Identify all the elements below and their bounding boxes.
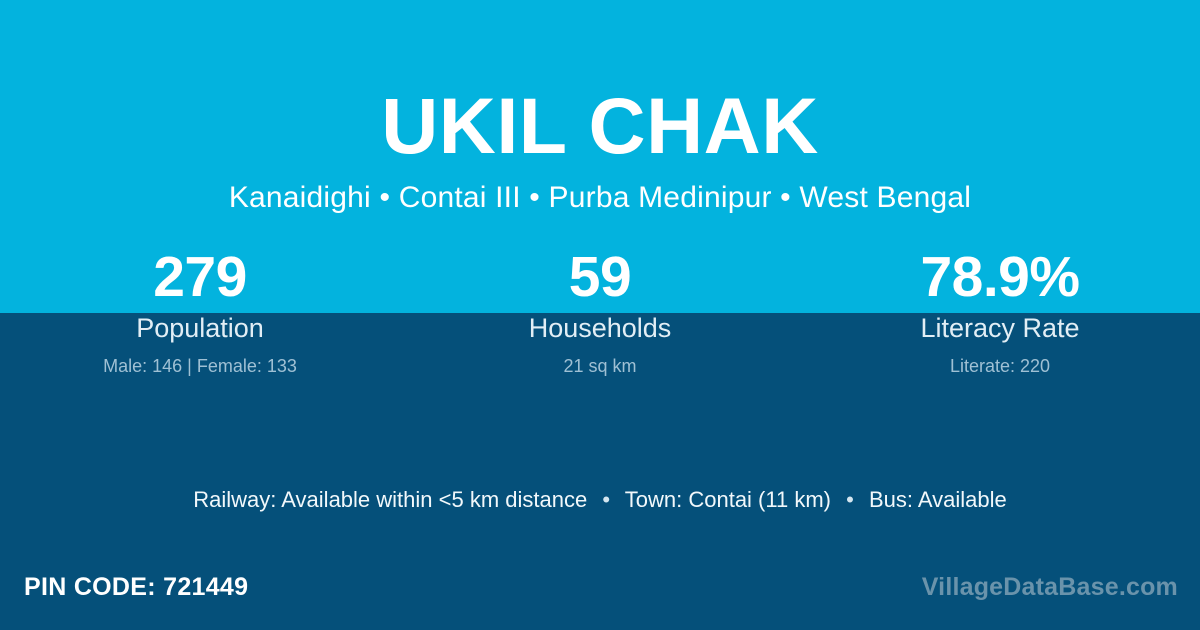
stat-value: 78.9%	[800, 245, 1200, 309]
village-info-card: UKIL CHAK Kanaidighi • Contai III • Purb…	[0, 0, 1200, 630]
stat-label: Population	[0, 311, 400, 345]
site-watermark: VillageDataBase.com	[922, 570, 1178, 604]
transport-info: Railway: Available within <5 km distance…	[0, 485, 1200, 515]
stat-label: Literacy Rate	[800, 311, 1200, 345]
transport-town: Town: Contai (11 km)	[625, 487, 831, 512]
pin-code: PIN CODE: 721449	[24, 570, 248, 604]
transport-separator-icon: •	[593, 485, 619, 515]
stat-literacy-rate: 78.9% Literacy Rate Literate: 220	[800, 245, 1200, 378]
stat-value: 279	[0, 245, 400, 309]
footer: PIN CODE: 721449 VillageDataBase.com	[0, 570, 1200, 614]
stat-sublabel: Literate: 220	[800, 354, 1200, 378]
page-title: UKIL CHAK	[0, 86, 1200, 165]
stat-population: 279 Population Male: 146 | Female: 133	[0, 245, 400, 378]
stat-value: 59	[400, 245, 800, 309]
stat-sublabel: 21 sq km	[400, 354, 800, 378]
transport-railway: Railway: Available within <5 km distance	[193, 487, 587, 512]
transport-bus: Bus: Available	[869, 487, 1007, 512]
stat-sublabel: Male: 146 | Female: 133	[0, 354, 400, 378]
stat-households: 59 Households 21 sq km	[400, 245, 800, 378]
transport-separator-icon: •	[837, 485, 863, 515]
stat-label: Households	[400, 311, 800, 345]
breadcrumb: Kanaidighi • Contai III • Purba Medinipu…	[0, 180, 1200, 216]
stats-row: 279 Population Male: 146 | Female: 133 5…	[0, 245, 1200, 378]
